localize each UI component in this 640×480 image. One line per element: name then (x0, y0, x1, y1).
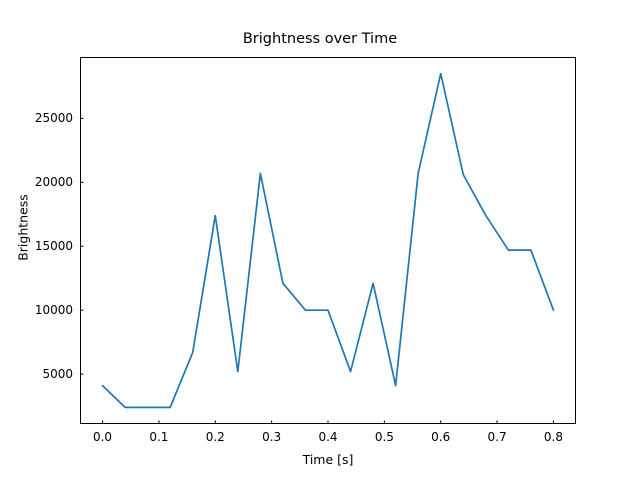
y-tick-label: 25000 (18, 111, 73, 125)
plot-canvas (80, 57, 576, 424)
x-axis-label: Time [s] (80, 452, 576, 467)
x-tick-label: 0.5 (375, 430, 394, 444)
y-tick-label: 10000 (18, 303, 73, 317)
x-tick-label: 0.4 (318, 430, 337, 444)
x-tick-label: 0.6 (431, 430, 450, 444)
y-tick-label: 20000 (18, 175, 73, 189)
x-tick-label: 0.1 (149, 430, 168, 444)
x-tick-label: 0.8 (544, 430, 563, 444)
y-tick-label: 5000 (18, 367, 73, 381)
x-tick-label: 0.0 (93, 430, 112, 444)
chart-title: Brightness over Time (0, 30, 640, 48)
y-tick-label: 15000 (18, 239, 73, 253)
plot-axes: 500010000150002000025000 0.00.10.20.30.4… (80, 57, 576, 424)
x-tick-label: 0.7 (488, 430, 507, 444)
matplotlib-figure: Brightness over Time Brightness Time [s]… (0, 0, 640, 480)
x-tick-label: 0.3 (262, 430, 281, 444)
x-tick-label: 0.2 (206, 430, 225, 444)
